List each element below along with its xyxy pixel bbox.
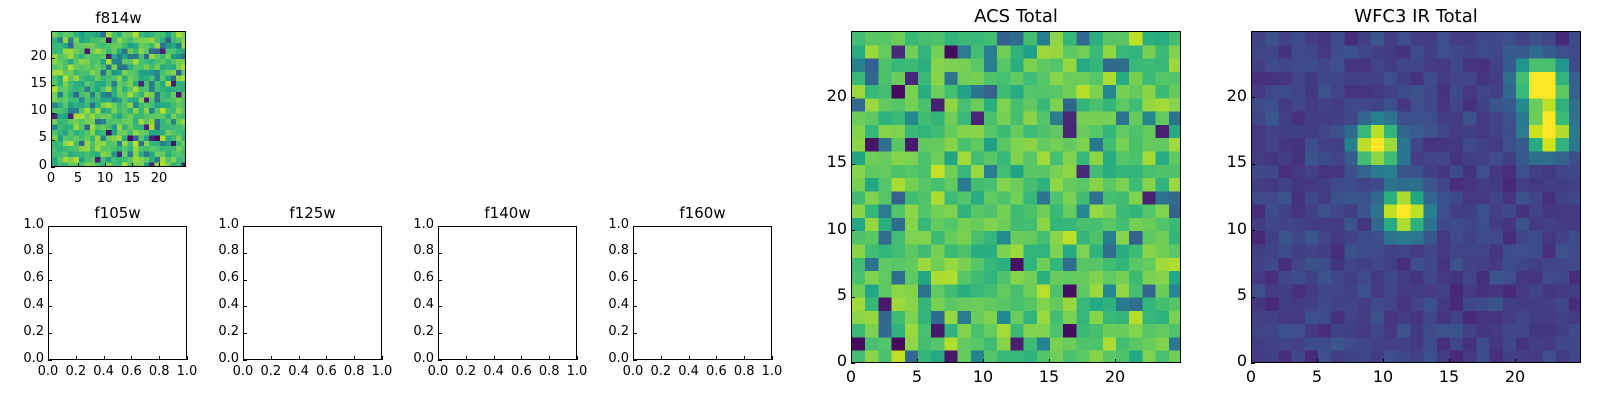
x-tick-f814w bbox=[78, 163, 79, 167]
y-tick-label-f140w: 0.8 bbox=[374, 243, 434, 258]
x-tick-f125w bbox=[299, 356, 300, 360]
y-tick-f140w bbox=[438, 360, 442, 361]
x-tick-wfc3_ir_total bbox=[1383, 359, 1384, 363]
y-tick-f125w bbox=[243, 280, 247, 281]
heatmap-image-wfc3_ir_total bbox=[1252, 32, 1581, 363]
y-tick-label-f814w: 10 bbox=[0, 103, 47, 118]
y-tick-f140w bbox=[438, 280, 442, 281]
x-tick-f140w bbox=[549, 356, 550, 360]
y-tick-acs_total bbox=[851, 363, 855, 364]
x-tick-label-acs_total: 20 bbox=[1080, 367, 1150, 386]
x-tick-label-f814w: 20 bbox=[124, 171, 194, 186]
y-tick-f814w bbox=[51, 85, 55, 86]
x-tick-f125w bbox=[271, 356, 272, 360]
y-tick-label-f105w: 0.8 bbox=[0, 243, 44, 258]
x-tick-f814w bbox=[105, 163, 106, 167]
x-tick-f160w bbox=[716, 356, 717, 360]
x-tick-f105w bbox=[76, 356, 77, 360]
y-tick-label-f140w: 0.2 bbox=[374, 324, 434, 339]
x-tick-wfc3_ir_total bbox=[1317, 359, 1318, 363]
y-tick-f125w bbox=[243, 333, 247, 334]
y-tick-label-f814w: 20 bbox=[0, 49, 47, 64]
y-tick-label-f125w: 0.2 bbox=[179, 324, 239, 339]
x-tick-acs_total bbox=[1049, 359, 1050, 363]
y-tick-label-f160w: 0.2 bbox=[569, 324, 629, 339]
x-tick-label-wfc3_ir_total: 15 bbox=[1414, 367, 1484, 386]
y-tick-label-f105w: 0.0 bbox=[0, 351, 44, 366]
x-tick-f140w bbox=[494, 356, 495, 360]
y-tick-f105w bbox=[48, 333, 52, 334]
subplot-title-f125w: f125w bbox=[243, 204, 382, 222]
x-tick-f160w bbox=[661, 356, 662, 360]
y-tick-label-f140w: 0.0 bbox=[374, 351, 434, 366]
y-tick-label-f160w: 0.0 bbox=[569, 351, 629, 366]
x-tick-acs_total bbox=[983, 359, 984, 363]
y-tick-label-f125w: 1.0 bbox=[179, 217, 239, 232]
plot-area-f814w bbox=[51, 31, 186, 167]
subplot-title-wfc3_ir_total: WFC3 IR Total bbox=[1251, 6, 1581, 27]
subplot-title-f814w: f814w bbox=[51, 9, 186, 27]
y-tick-label-f125w: 0.6 bbox=[179, 270, 239, 285]
y-tick-label-f140w: 1.0 bbox=[374, 217, 434, 232]
y-tick-f105w bbox=[48, 280, 52, 281]
x-tick-label-acs_total: 15 bbox=[1014, 367, 1084, 386]
y-tick-label-f125w: 0.8 bbox=[179, 243, 239, 258]
subplot-title-f105w: f105w bbox=[48, 204, 187, 222]
y-tick-label-f814w: 5 bbox=[0, 130, 47, 145]
plot-area-f125w bbox=[243, 226, 382, 360]
y-tick-label-f125w: 0.0 bbox=[179, 351, 239, 366]
y-tick-wfc3_ir_total bbox=[1251, 297, 1255, 298]
y-tick-label-f140w: 0.4 bbox=[374, 297, 434, 312]
plot-area-f140w bbox=[438, 226, 577, 360]
y-tick-label-f105w: 0.6 bbox=[0, 270, 44, 285]
y-tick-wfc3_ir_total bbox=[1251, 97, 1255, 98]
subplot-title-f160w: f160w bbox=[633, 204, 772, 222]
heatmap-image-acs_total bbox=[852, 32, 1181, 363]
y-tick-label-acs_total: 10 bbox=[787, 219, 847, 238]
y-tick-acs_total bbox=[851, 230, 855, 231]
x-tick-f105w bbox=[104, 356, 105, 360]
y-tick-f125w bbox=[243, 253, 247, 254]
x-tick-f105w bbox=[131, 356, 132, 360]
x-tick-label-wfc3_ir_total: 20 bbox=[1480, 367, 1550, 386]
y-tick-f814w bbox=[51, 167, 55, 168]
y-tick-f814w bbox=[51, 113, 55, 114]
x-tick-wfc3_ir_total bbox=[1449, 359, 1450, 363]
y-tick-label-f160w: 1.0 bbox=[569, 217, 629, 232]
x-tick-label-wfc3_ir_total: 10 bbox=[1348, 367, 1418, 386]
y-tick-label-f814w: 0 bbox=[0, 158, 47, 173]
y-tick-label-f160w: 0.6 bbox=[569, 270, 629, 285]
y-tick-label-acs_total: 0 bbox=[787, 351, 847, 370]
x-tick-f125w bbox=[326, 356, 327, 360]
x-tick-f814w bbox=[159, 163, 160, 167]
y-tick-f814w bbox=[51, 140, 55, 141]
y-tick-label-wfc3_ir_total: 10 bbox=[1187, 219, 1247, 238]
y-tick-f105w bbox=[48, 226, 52, 227]
y-tick-acs_total bbox=[851, 297, 855, 298]
y-tick-f140w bbox=[438, 333, 442, 334]
x-tick-f125w bbox=[354, 356, 355, 360]
y-tick-label-acs_total: 20 bbox=[787, 86, 847, 105]
plot-area-acs_total bbox=[851, 31, 1181, 363]
x-tick-label-acs_total: 10 bbox=[948, 367, 1018, 386]
y-tick-label-f160w: 0.4 bbox=[569, 297, 629, 312]
y-tick-f125w bbox=[243, 306, 247, 307]
y-tick-f140w bbox=[438, 306, 442, 307]
y-tick-f160w bbox=[633, 306, 637, 307]
plot-area-wfc3_ir_total bbox=[1251, 31, 1581, 363]
y-tick-wfc3_ir_total bbox=[1251, 363, 1255, 364]
y-tick-f125w bbox=[243, 226, 247, 227]
y-tick-label-f105w: 0.2 bbox=[0, 324, 44, 339]
x-tick-acs_total bbox=[1115, 359, 1116, 363]
y-tick-f160w bbox=[633, 333, 637, 334]
y-tick-f160w bbox=[633, 280, 637, 281]
y-tick-label-f814w: 15 bbox=[0, 76, 47, 91]
x-tick-f160w bbox=[744, 356, 745, 360]
heatmap-image-f814w bbox=[52, 32, 186, 167]
y-tick-label-wfc3_ir_total: 0 bbox=[1187, 351, 1247, 370]
x-tick-f105w bbox=[159, 356, 160, 360]
y-tick-f105w bbox=[48, 306, 52, 307]
plot-area-f160w bbox=[633, 226, 772, 360]
x-tick-acs_total bbox=[917, 359, 918, 363]
x-tick-f140w bbox=[466, 356, 467, 360]
y-tick-f140w bbox=[438, 253, 442, 254]
x-tick-label-wfc3_ir_total: 5 bbox=[1282, 367, 1352, 386]
x-tick-f140w bbox=[521, 356, 522, 360]
y-tick-f814w bbox=[51, 58, 55, 59]
y-tick-f160w bbox=[633, 360, 637, 361]
x-tick-f160w bbox=[689, 356, 690, 360]
y-tick-label-wfc3_ir_total: 20 bbox=[1187, 86, 1247, 105]
x-tick-f160w bbox=[772, 356, 773, 360]
y-tick-label-wfc3_ir_total: 15 bbox=[1187, 152, 1247, 171]
y-tick-f160w bbox=[633, 226, 637, 227]
y-tick-f140w bbox=[438, 226, 442, 227]
x-tick-wfc3_ir_total bbox=[1515, 359, 1516, 363]
subplot-title-acs_total: ACS Total bbox=[851, 6, 1181, 27]
y-tick-wfc3_ir_total bbox=[1251, 164, 1255, 165]
y-tick-wfc3_ir_total bbox=[1251, 230, 1255, 231]
x-tick-label-acs_total: 5 bbox=[882, 367, 952, 386]
y-tick-label-acs_total: 5 bbox=[787, 285, 847, 304]
y-tick-label-f140w: 0.6 bbox=[374, 270, 434, 285]
y-tick-label-wfc3_ir_total: 5 bbox=[1187, 285, 1247, 304]
y-tick-acs_total bbox=[851, 164, 855, 165]
x-tick-f814w bbox=[132, 163, 133, 167]
y-tick-f105w bbox=[48, 360, 52, 361]
y-tick-label-f160w: 0.8 bbox=[569, 243, 629, 258]
subplot-title-f140w: f140w bbox=[438, 204, 577, 222]
y-tick-f160w bbox=[633, 253, 637, 254]
y-tick-f125w bbox=[243, 360, 247, 361]
y-tick-label-f125w: 0.4 bbox=[179, 297, 239, 312]
y-tick-f105w bbox=[48, 253, 52, 254]
y-tick-label-f105w: 1.0 bbox=[0, 217, 44, 232]
y-tick-acs_total bbox=[851, 97, 855, 98]
plot-area-f105w bbox=[48, 226, 187, 360]
y-tick-label-f105w: 0.4 bbox=[0, 297, 44, 312]
y-tick-label-acs_total: 15 bbox=[787, 152, 847, 171]
